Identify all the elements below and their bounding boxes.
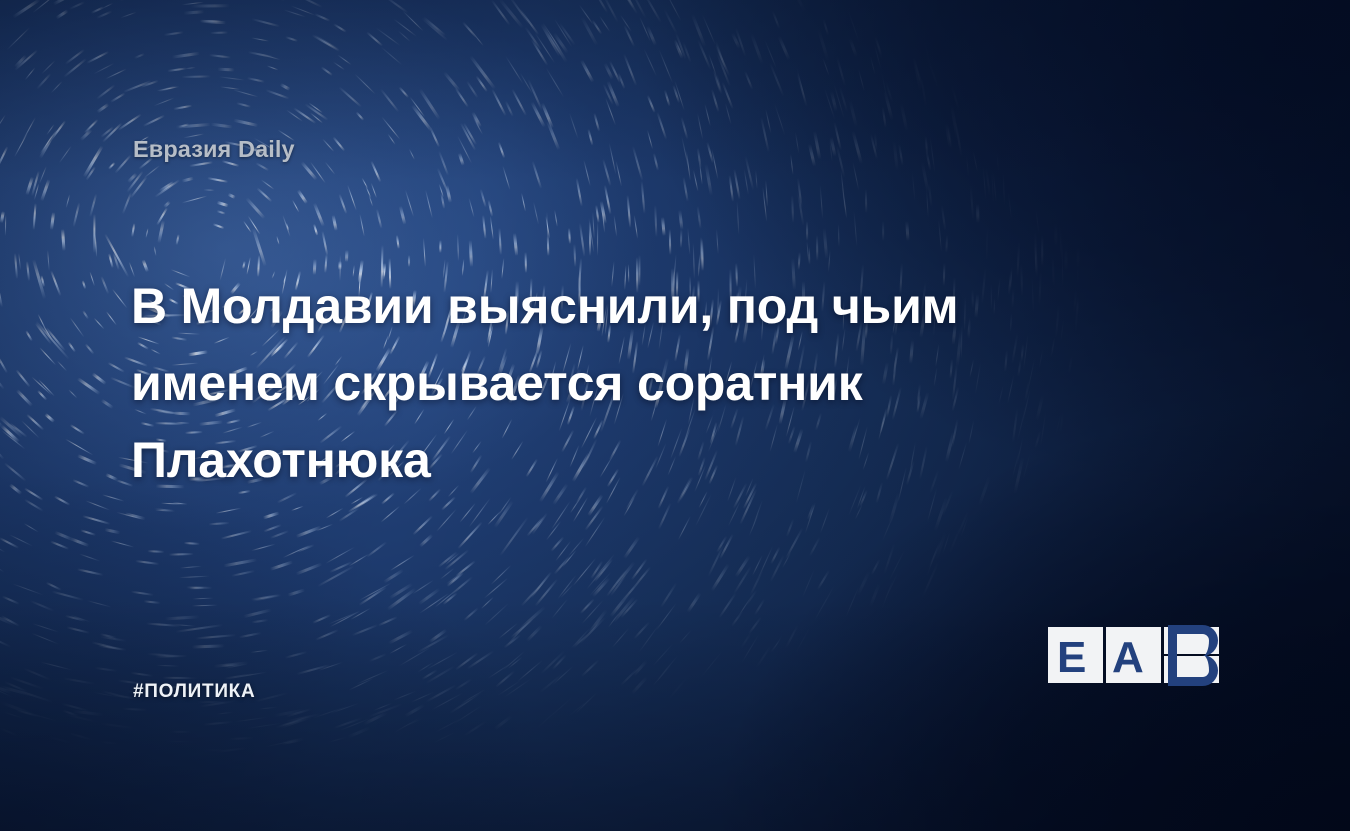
logo-tile-a: A bbox=[1106, 627, 1161, 683]
logo-letter-e: E bbox=[1057, 636, 1086, 680]
logo-letter-d-stem-bottom bbox=[1168, 655, 1177, 686]
site-name: Евразия Daily bbox=[133, 136, 295, 163]
news-share-card: Евразия Daily В Молдавии выяснили, под ч… bbox=[0, 0, 1350, 831]
logo-tile-e: E bbox=[1048, 627, 1103, 683]
logo-letter-d-stem-top bbox=[1168, 625, 1177, 656]
headline: В Молдавии выяснили, под чьим именем скр… bbox=[131, 268, 1041, 499]
logo-letter-a: A bbox=[1112, 636, 1144, 680]
ead-logo: E A bbox=[1048, 627, 1228, 684]
category-tag: #ПОЛИТИКА bbox=[133, 681, 255, 703]
card-content: Евразия Daily В Молдавии выяснили, под ч… bbox=[0, 0, 1350, 831]
